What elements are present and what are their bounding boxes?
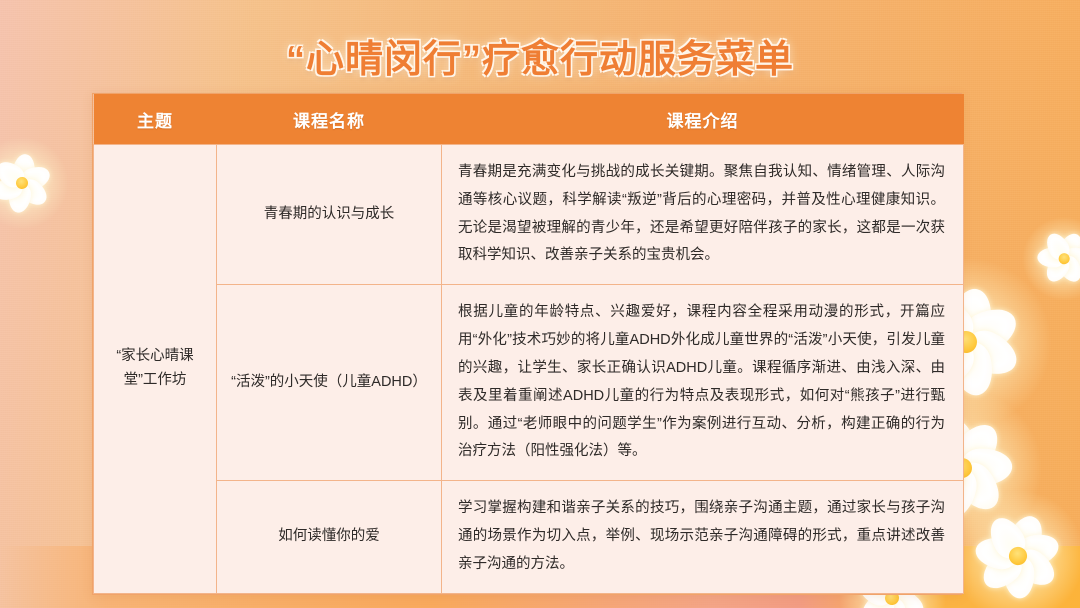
course-name-cell: “活泼”的小天使（儿童ADHD） bbox=[217, 285, 442, 481]
table-header-row: 主题 课程名称 课程介绍 bbox=[94, 94, 964, 145]
table-body: “家长心晴课堂”工作坊 青春期的认识与成长 青春期是充满变化与挑战的成长关键期。… bbox=[94, 145, 964, 594]
course-intro-cell: 青春期是充满变化与挑战的成长关键期。聚焦自我认知、情绪管理、人际沟通等核心议题，… bbox=[442, 145, 964, 285]
column-header-course-name: 课程名称 bbox=[217, 94, 442, 145]
theme-group-cell: “家长心晴课堂”工作坊 bbox=[94, 145, 217, 594]
page-title: “心晴闵行”疗愈行动服务菜单 bbox=[0, 28, 1080, 83]
table-header: 主题 课程名称 课程介绍 bbox=[94, 94, 964, 145]
course-name-cell: 如何读懂你的爱 bbox=[217, 481, 442, 593]
column-header-theme: 主题 bbox=[94, 94, 217, 145]
course-intro-cell: 学习掌握构建和谐亲子关系的技巧，围绕亲子沟通主题，通过家长与孩子沟通的场景作为切… bbox=[442, 481, 964, 593]
column-header-course-intro: 课程介绍 bbox=[442, 94, 964, 145]
table-row: “家长心晴课堂”工作坊 青春期的认识与成长 青春期是充满变化与挑战的成长关键期。… bbox=[94, 145, 964, 285]
service-menu-table: 主题 课程名称 课程介绍 “家长心晴课堂”工作坊 青春期的认识与成长 青春期是充… bbox=[92, 93, 962, 595]
course-intro-cell: 根据儿童的年龄特点、兴趣爱好，课程内容全程采用动漫的形式，开篇应用“外化”技术巧… bbox=[442, 285, 964, 481]
table-row: 如何读懂你的爱 学习掌握构建和谐亲子关系的技巧，围绕亲子沟通主题，通过家长与孩子… bbox=[94, 481, 964, 593]
course-name-cell: 青春期的认识与成长 bbox=[217, 145, 442, 285]
slide-canvas: “心晴闵行”疗愈行动服务菜单 主题 课程名称 课程介绍 “家长心晴课堂”工作坊 … bbox=[0, 0, 1080, 608]
table-row: “活泼”的小天使（儿童ADHD） 根据儿童的年龄特点、兴趣爱好，课程内容全程采用… bbox=[94, 285, 964, 481]
